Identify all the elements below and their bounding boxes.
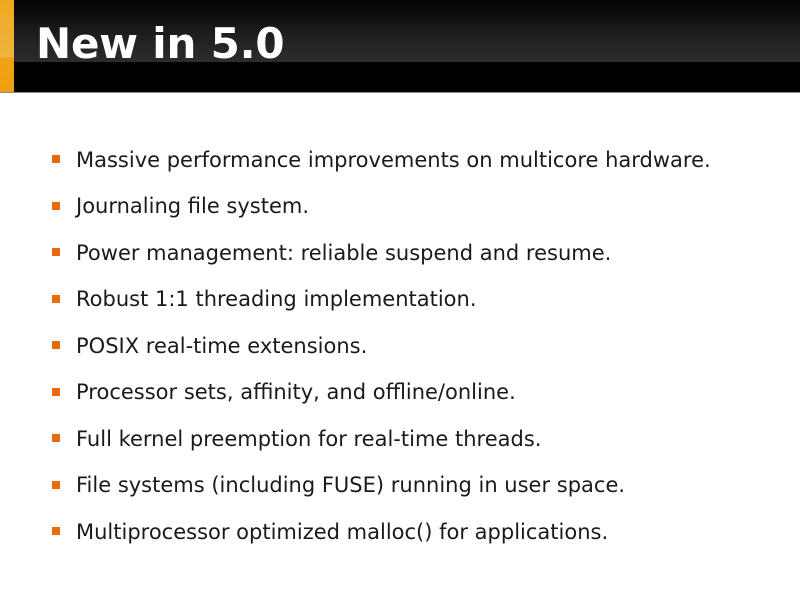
- list-item: Robust 1:1 threading implementation.: [52, 277, 770, 324]
- list-item-label: Multiprocessor optimized malloc() for ap…: [76, 520, 608, 545]
- list-item: File systems (including FUSE) running in…: [52, 463, 770, 510]
- presentation-slide: New in 5.0 Massive performance improveme…: [0, 0, 800, 600]
- list-item-label: File systems (including FUSE) running in…: [76, 473, 625, 498]
- list-item: POSIX real-time extensions.: [52, 323, 770, 370]
- bullet-list: Massive performance improvements on mult…: [52, 137, 770, 556]
- square-bullet-icon: [52, 248, 60, 256]
- list-item: Power management: reliable suspend and r…: [52, 230, 770, 277]
- list-item: Full kernel preemption for real-time thr…: [52, 416, 770, 463]
- list-item-label: Processor sets, affinity, and offline/on…: [76, 380, 516, 405]
- page-title: New in 5.0: [36, 23, 284, 65]
- list-item-label: Massive performance improvements on mult…: [76, 148, 711, 173]
- header-accent-stripe: [0, 0, 14, 92]
- square-bullet-icon: [52, 341, 60, 349]
- slide-header: New in 5.0: [0, 0, 800, 93]
- list-item-label: Robust 1:1 threading implementation.: [76, 287, 477, 312]
- list-item-label: POSIX real-time extensions.: [76, 334, 367, 359]
- list-item: Journaling file system.: [52, 184, 770, 231]
- square-bullet-icon: [52, 295, 60, 303]
- list-item-label: Power management: reliable suspend and r…: [76, 241, 611, 266]
- square-bullet-icon: [52, 202, 60, 210]
- list-item-label: Full kernel preemption for real-time thr…: [76, 427, 541, 452]
- list-item: Massive performance improvements on mult…: [52, 137, 770, 184]
- square-bullet-icon: [52, 155, 60, 163]
- square-bullet-icon: [52, 527, 60, 535]
- square-bullet-icon: [52, 434, 60, 442]
- list-item: Processor sets, affinity, and offline/on…: [52, 370, 770, 417]
- square-bullet-icon: [52, 481, 60, 489]
- square-bullet-icon: [52, 388, 60, 396]
- list-item-label: Journaling file system.: [76, 194, 309, 219]
- slide-body: Massive performance improvements on mult…: [0, 93, 800, 600]
- list-item: Multiprocessor optimized malloc() for ap…: [52, 509, 770, 556]
